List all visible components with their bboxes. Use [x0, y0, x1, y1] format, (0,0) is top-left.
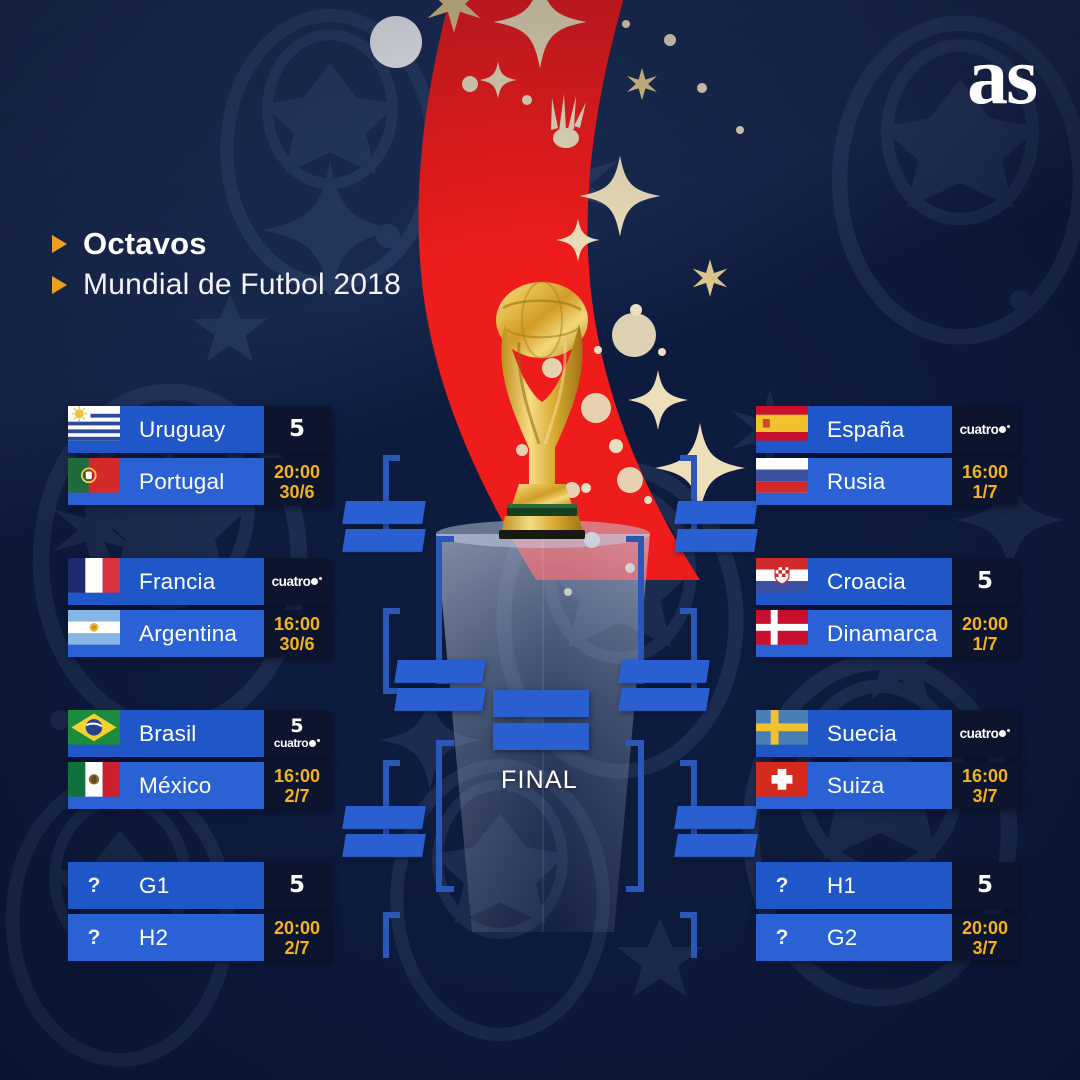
cuatro-channel-logo: cuatro: [960, 726, 1011, 741]
team-name: Uruguay: [120, 417, 225, 443]
cuatro-channel-label: cuatro: [960, 422, 999, 437]
team-name: Francia: [120, 569, 215, 595]
connector-line: [680, 455, 697, 461]
channel-panel: 5: [264, 862, 330, 909]
team-name: H1: [808, 873, 856, 899]
connector-line: [383, 455, 400, 461]
flag-dinamarca: [756, 610, 808, 657]
match-h1-g2[interactable]: ? H1 5 ? G2 20:00 3/7: [756, 862, 1018, 966]
connector-line: [691, 912, 697, 958]
channel-panel: cuatro: [264, 558, 330, 605]
final-slot-a[interactable]: [493, 690, 589, 717]
match-uruguay-portugal[interactable]: Uruguay 5 Portugal 20:00 30/6: [68, 406, 330, 510]
match-row-team-top[interactable]: Suecia cuatro: [756, 710, 1018, 757]
connector-line: [436, 740, 442, 892]
match-row-team-top[interactable]: ? H1 5: [756, 862, 1018, 909]
flag-croacia: [756, 558, 808, 605]
kickoff-time: 16:00: [962, 766, 1008, 786]
channel-panel: cuatro: [952, 710, 1018, 757]
kickoff-date: 3/7: [972, 938, 997, 958]
connector-line: [383, 912, 400, 918]
match-row-team-bottom[interactable]: Dinamarca 20:00 1/7: [756, 610, 1018, 657]
kickoff-panel: 20:00 30/6: [264, 458, 330, 505]
flag-suecia: [756, 710, 808, 757]
unknown-team-icon: ?: [756, 862, 808, 909]
quarterfinal-slot-right-2a[interactable]: [674, 806, 758, 829]
connector-line: [436, 536, 454, 542]
telecinco-channel-logo: 5: [289, 874, 305, 897]
cuatro-channel-label: cuatro: [272, 574, 311, 589]
match-row-team-bottom[interactable]: Rusia 16:00 1/7: [756, 458, 1018, 505]
connector-line: [626, 740, 644, 746]
match-row-team-top[interactable]: Francia cuatro: [68, 558, 330, 605]
page-title: Octavos: [83, 226, 207, 262]
flag-mexico: [68, 762, 120, 809]
flag-espana: [756, 406, 808, 453]
team-name: Brasil: [120, 721, 196, 747]
kickoff-date: 2/7: [284, 786, 309, 806]
kickoff-date: 2/7: [284, 938, 309, 958]
match-row-team-bottom[interactable]: Argentina 16:00 30/6: [68, 610, 330, 657]
connector-line: [680, 608, 697, 614]
kickoff-date: 1/7: [972, 482, 997, 502]
channel-logo-stack: 5cuatro: [274, 717, 320, 750]
connector-line: [383, 760, 400, 766]
match-brasil-mexico[interactable]: Brasil 5cuatro México 16:00 2/7: [68, 710, 330, 814]
quarterfinal-slot-left-2a[interactable]: [342, 806, 426, 829]
kickoff-time: 20:00: [962, 614, 1008, 634]
connector-line: [680, 760, 697, 766]
kickoff-panel: 16:00 1/7: [952, 458, 1018, 505]
quarterfinal-slot-left-1a[interactable]: [342, 501, 426, 524]
team-name: G2: [808, 925, 857, 951]
connector-line: [436, 740, 454, 746]
connector-line: [383, 608, 400, 614]
team-name: México: [120, 773, 211, 799]
semifinal-slot-right-a[interactable]: [618, 660, 710, 683]
match-row-team-bottom[interactable]: Suiza 16:00 3/7: [756, 762, 1018, 809]
channel-panel: 5: [952, 558, 1018, 605]
match-row-team-bottom[interactable]: ? H2 20:00 2/7: [68, 914, 330, 961]
kickoff-panel: 20:00 3/7: [952, 914, 1018, 961]
as-logo[interactable]: as: [967, 35, 1036, 117]
match-g1-h2[interactable]: ? G1 5 ? H2 20:00 2/7: [68, 862, 330, 966]
flag-uruguay: [68, 406, 120, 453]
channel-panel: 5: [952, 862, 1018, 909]
team-name: Portugal: [120, 469, 224, 495]
match-croacia-dinamarca[interactable]: Croacia 5 Dinamarca 20:00 1/7: [756, 558, 1018, 662]
unknown-team-icon: ?: [756, 914, 808, 961]
telecinco-channel-logo: 5: [289, 418, 305, 441]
match-francia-argentina[interactable]: Francia cuatro Argentina 16:00 30/6: [68, 558, 330, 662]
team-name: Croacia: [808, 569, 906, 595]
kickoff-date: 30/6: [279, 634, 314, 654]
connector-line: [638, 740, 644, 892]
team-name: G1: [120, 873, 169, 899]
channel-panel: 5: [264, 406, 330, 453]
quarterfinal-slot-right-2b[interactable]: [674, 834, 758, 857]
team-name: H2: [120, 925, 168, 951]
cuatro-channel-logo: cuatro: [274, 737, 320, 750]
page-subtitle: Mundial de Futbol 2018: [83, 268, 401, 302]
connector-line: [626, 886, 644, 892]
telecinco-channel-logo: 5: [290, 717, 303, 736]
quarterfinal-slot-left-2b[interactable]: [342, 834, 426, 857]
match-espana-rusia[interactable]: España cuatro Rusia 16:00 1/7: [756, 406, 1018, 510]
connector-line: [436, 886, 454, 892]
kickoff-date: 30/6: [279, 482, 314, 502]
match-suecia-suiza[interactable]: Suecia cuatro Suiza 16:00 3/7: [756, 710, 1018, 814]
kickoff-panel: 16:00 3/7: [952, 762, 1018, 809]
team-name: Suecia: [808, 721, 897, 747]
kickoff-time: 20:00: [274, 462, 320, 482]
match-row-team-top[interactable]: Uruguay 5: [68, 406, 330, 453]
kickoff-date: 1/7: [972, 634, 997, 654]
flag-francia: [68, 558, 120, 605]
quarterfinal-slot-right-1b[interactable]: [674, 529, 758, 552]
kickoff-time: 16:00: [274, 614, 320, 634]
final-slot-b[interactable]: [493, 723, 589, 750]
connector-line: [383, 912, 389, 958]
channel-panel: 5cuatro: [264, 710, 330, 757]
semifinal-slot-right-b[interactable]: [618, 688, 710, 711]
flag-portugal: [68, 458, 120, 505]
quarterfinal-slot-left-1b[interactable]: [342, 529, 426, 552]
infographic-root: Octavos Mundial de Futbol 2018 as: [0, 0, 1080, 1080]
match-row-team-bottom[interactable]: ? G2 20:00 3/7: [756, 914, 1018, 961]
kickoff-time: 20:00: [962, 918, 1008, 938]
cuatro-channel-label: cuatro: [274, 737, 308, 750]
cuatro-channel-logo: cuatro: [272, 574, 323, 589]
match-row-team-top[interactable]: Croacia 5: [756, 558, 1018, 605]
kickoff-panel: 20:00 1/7: [952, 610, 1018, 657]
unknown-team-icon: ?: [68, 914, 120, 961]
match-row-team-top[interactable]: Brasil 5cuatro: [68, 710, 330, 757]
connector-line: [383, 608, 389, 694]
channel-panel: cuatro: [952, 406, 1018, 453]
semifinal-slot-left-b[interactable]: [394, 688, 486, 711]
kickoff-panel: 16:00 30/6: [264, 610, 330, 657]
match-row-team-top[interactable]: España cuatro: [756, 406, 1018, 453]
team-name: España: [808, 417, 905, 443]
kickoff-time: 16:00: [274, 766, 320, 786]
unknown-team-icon: ?: [68, 862, 120, 909]
telecinco-channel-logo: 5: [977, 874, 993, 897]
match-row-team-top[interactable]: ? G1 5: [68, 862, 330, 909]
telecinco-channel-logo: 5: [977, 570, 993, 593]
triangle-bullet-icon: [52, 235, 67, 253]
flag-brasil: [68, 710, 120, 757]
triangle-bullet-icon: [52, 276, 67, 294]
kickoff-time: 20:00: [274, 918, 320, 938]
match-row-team-bottom[interactable]: Portugal 20:00 30/6: [68, 458, 330, 505]
kickoff-time: 16:00: [962, 462, 1008, 482]
connector-line: [626, 536, 644, 542]
quarterfinal-slot-right-1a[interactable]: [674, 501, 758, 524]
title-row-secondary: Mundial de Futbol 2018: [52, 268, 401, 302]
team-name: Rusia: [808, 469, 886, 495]
flag-argentina: [68, 610, 120, 657]
semifinal-slot-left-a[interactable]: [394, 660, 486, 683]
cuatro-channel-logo: cuatro: [960, 422, 1011, 437]
title-row-primary: Octavos: [52, 226, 401, 262]
team-name: Argentina: [120, 621, 237, 647]
team-name: Dinamarca: [808, 621, 938, 647]
flag-suiza: [756, 762, 808, 809]
kickoff-panel: 16:00 2/7: [264, 762, 330, 809]
kickoff-panel: 20:00 2/7: [264, 914, 330, 961]
final-label: FINAL: [501, 766, 578, 795]
team-name: Suiza: [808, 773, 884, 799]
flag-rusia: [756, 458, 808, 505]
title-block: Octavos Mundial de Futbol 2018: [52, 226, 401, 308]
connector-line: [680, 912, 697, 918]
kickoff-date: 3/7: [972, 786, 997, 806]
match-row-team-bottom[interactable]: México 16:00 2/7: [68, 762, 330, 809]
cuatro-channel-label: cuatro: [960, 726, 999, 741]
